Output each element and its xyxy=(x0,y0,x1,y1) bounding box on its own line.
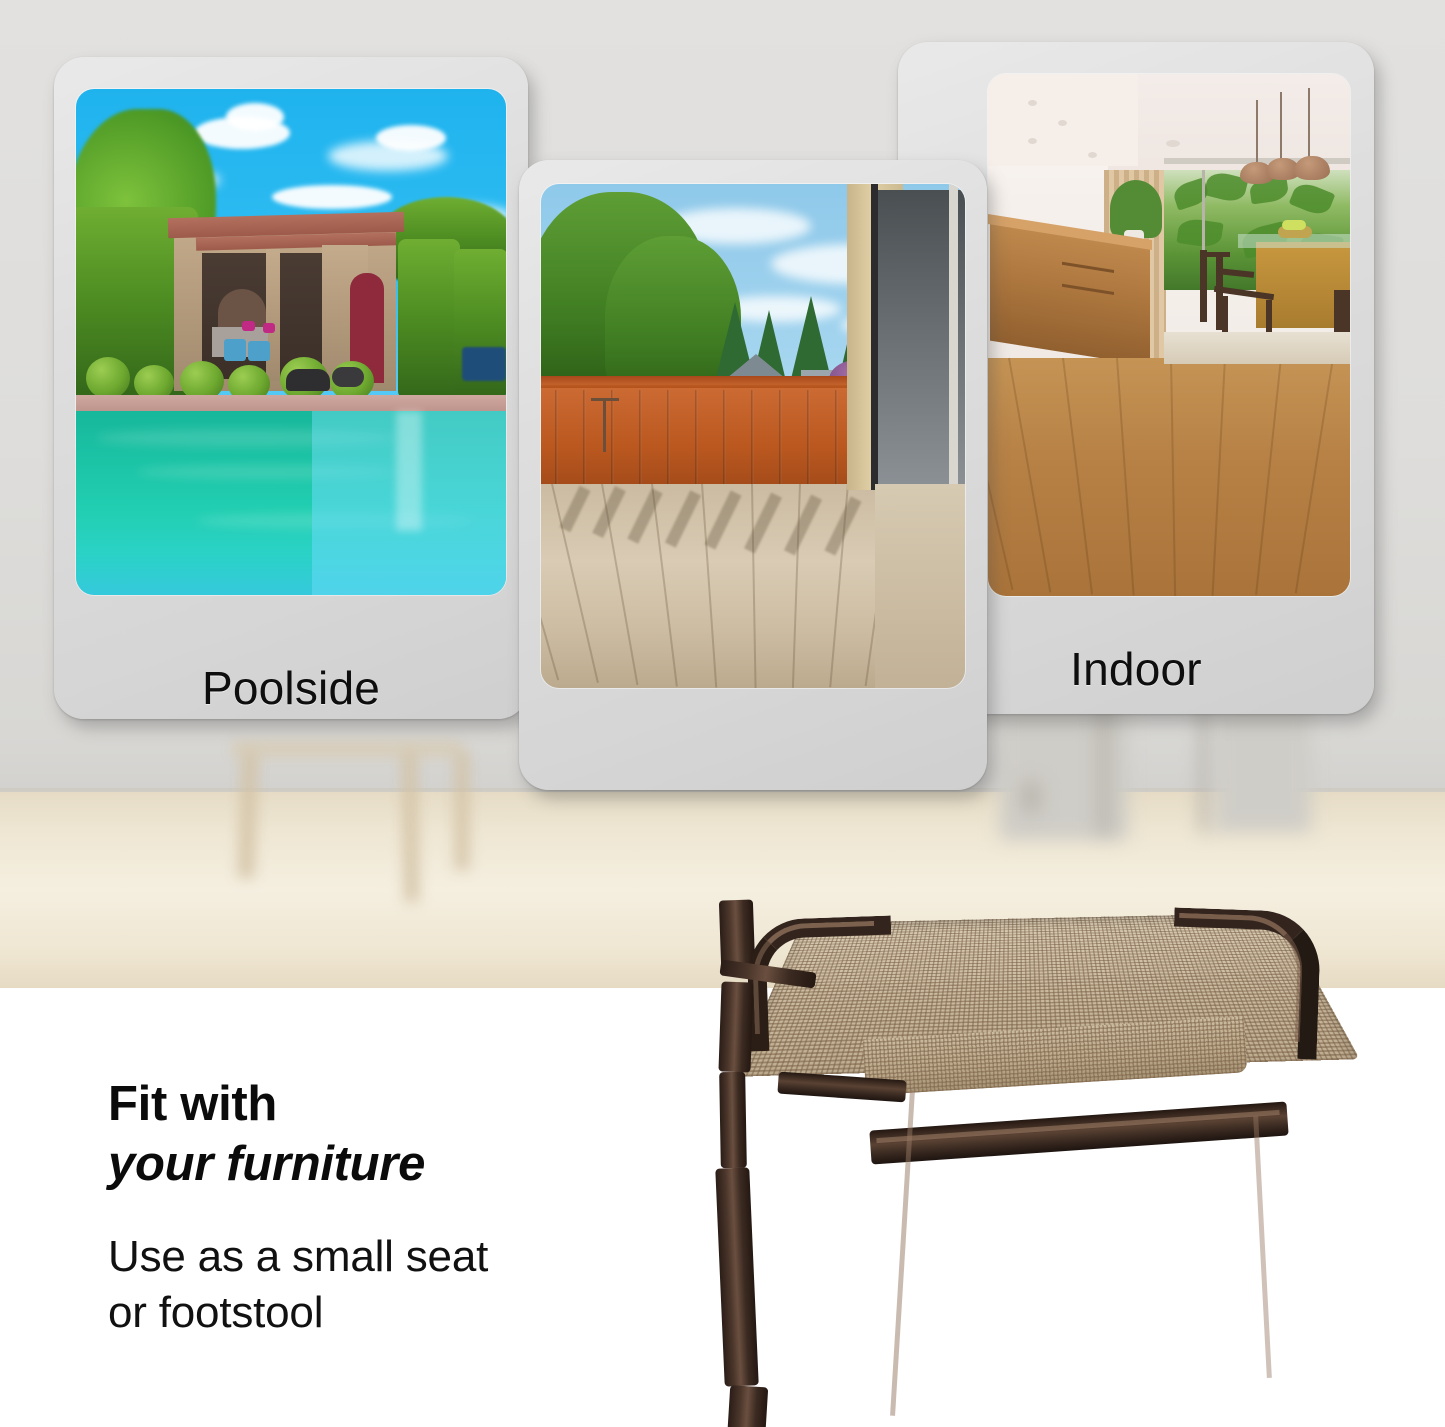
poolside-photo xyxy=(76,89,506,595)
frame-center-support xyxy=(719,1072,747,1168)
scenario-card-poolside[interactable]: Poolside xyxy=(54,57,528,719)
frame-right-arm-post xyxy=(718,981,753,1072)
frame-front-stretcher xyxy=(869,1101,1288,1164)
card-caption-poolside: Poolside xyxy=(54,661,528,715)
headline-line-2: your furniture xyxy=(108,1135,728,1195)
subtext-line-2: or footstool xyxy=(108,1285,708,1341)
scenario-card-balcony[interactable]: Balcony xyxy=(519,160,987,790)
product-ottoman-footstool xyxy=(720,900,1360,1427)
headline-line-1: Fit with xyxy=(108,1075,728,1135)
frame-left-arm-post xyxy=(719,899,755,966)
subtext-line-1: Use as a small seat xyxy=(108,1229,708,1285)
subtext-block: Use as a small seat or footstool xyxy=(108,1229,708,1342)
product-infographic: Poolside xyxy=(0,0,1445,1427)
headline-block: Fit with your furniture xyxy=(108,1075,728,1195)
frame-right-arm-curve-hl xyxy=(1175,913,1304,1042)
frame-leg-front-right-groove xyxy=(1253,1116,1272,1378)
indoor-photo xyxy=(988,74,1350,596)
balcony-photo xyxy=(541,184,965,688)
frame-leg-rear-left xyxy=(715,1167,758,1386)
